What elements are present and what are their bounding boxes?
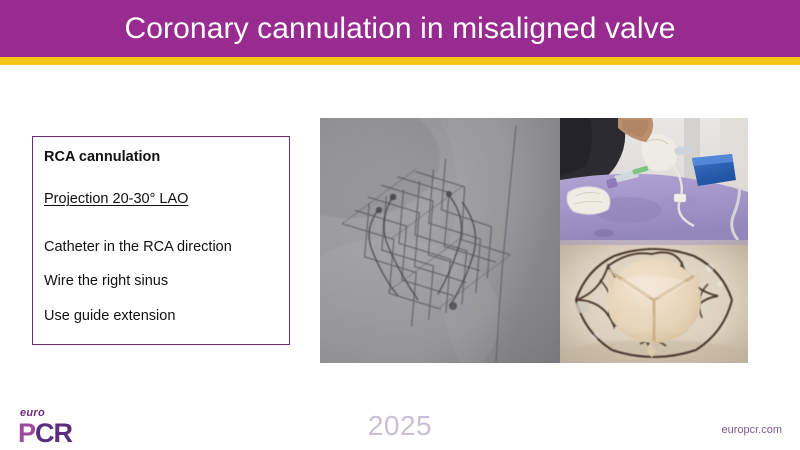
tavi-valve-en-face-photo [560, 240, 748, 363]
right-photo-column [560, 118, 748, 363]
callout-heading: RCA cannulation [44, 149, 289, 166]
rca-cannulation-callout-box: RCA cannulation Projection 20-30° LAO Ca… [32, 136, 290, 345]
website-label: europcr.com [721, 424, 782, 436]
media-block [320, 118, 748, 363]
callout-bullet-3: Use guide extension [44, 308, 289, 325]
cathlab-procedure-photo [560, 118, 748, 240]
title-banner: Coronary cannulation in misaligned valve [0, 0, 800, 57]
year-label: 2025 [0, 410, 800, 442]
callout-bullet-1: Catheter in the RCA direction [44, 239, 289, 256]
callout-subheading: Projection 20-30° LAO [44, 191, 188, 208]
page-title: Coronary cannulation in misaligned valve [125, 12, 676, 46]
callout-bullet-2: Wire the right sinus [44, 273, 289, 290]
accent-bar [0, 57, 800, 65]
fluoroscopy-stent-frame-image [320, 118, 560, 363]
